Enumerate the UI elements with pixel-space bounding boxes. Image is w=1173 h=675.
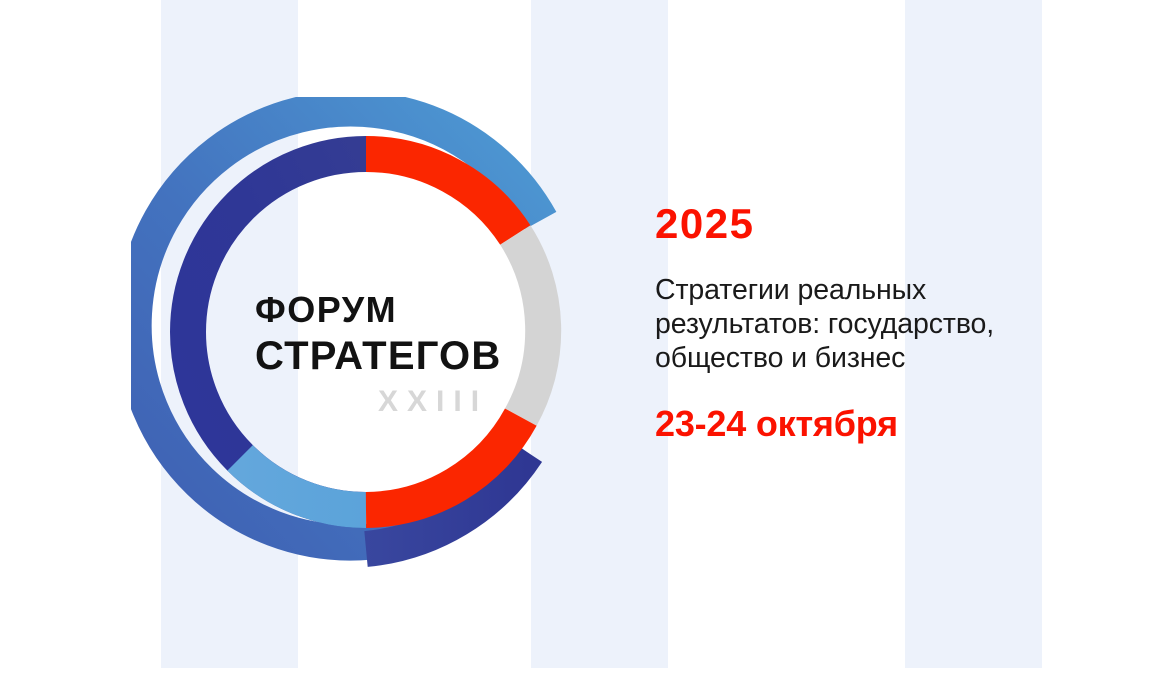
forum-logo: ФОРУМ СТРАТЕГОВ XXIII <box>131 97 601 567</box>
event-theme: Стратегии реальных результатов: государс… <box>655 273 1055 376</box>
logo-inner-arc-lightblue <box>240 458 366 510</box>
event-dates: 23-24 октября <box>655 406 1075 442</box>
event-info-block: 2025 Стратегии реальных результатов: гос… <box>655 203 1075 442</box>
poster-canvas: ФОРУМ СТРАТЕГОВ XXIII 2025 Стратегии реа… <box>0 0 1173 675</box>
logo-ring-graphic <box>131 97 601 567</box>
logo-inner-arc-gray <box>515 235 543 417</box>
event-year: 2025 <box>655 203 1075 245</box>
logo-inner-arc-navy <box>188 154 366 510</box>
